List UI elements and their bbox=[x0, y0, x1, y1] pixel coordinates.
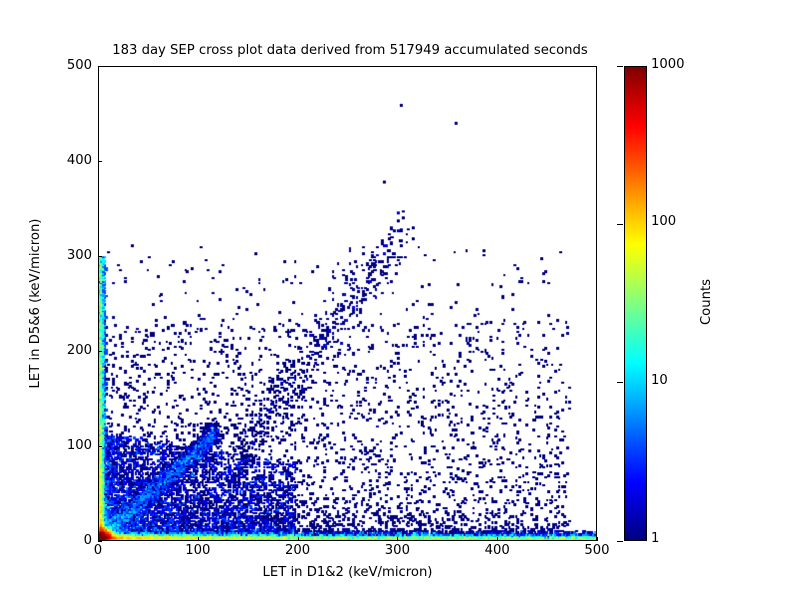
figure-canvas: 183 day SEP cross plot data derived from… bbox=[0, 0, 800, 600]
y-tick-mark bbox=[98, 541, 102, 542]
y-tick-label: 500 bbox=[48, 58, 92, 73]
x-tick-mark bbox=[397, 537, 398, 541]
plot-area[interactable] bbox=[98, 66, 597, 541]
y-tick-mark bbox=[98, 66, 102, 67]
colorbar-tick-label: 1000 bbox=[651, 57, 685, 72]
x-tick-mark bbox=[497, 537, 498, 541]
scatter-density-plot bbox=[99, 67, 596, 540]
y-tick-label: 300 bbox=[48, 248, 92, 263]
colorbar[interactable] bbox=[624, 66, 647, 541]
title-line-1: 183 day SEP cross plot data derived from… bbox=[0, 42, 700, 59]
colorbar-tick-label: 1 bbox=[651, 531, 659, 546]
colorbar-tick-mark bbox=[617, 66, 623, 67]
y-tick-mark bbox=[98, 351, 102, 352]
colorbar-tick-mark bbox=[617, 382, 623, 383]
y-axis-label: LET in D5&6 (keV/micron) bbox=[28, 66, 48, 541]
colorbar-tick-label: 100 bbox=[651, 214, 676, 229]
x-tick-mark bbox=[298, 537, 299, 541]
colorbar-axis-label: Counts bbox=[699, 202, 714, 402]
y-tick-label: 0 bbox=[48, 533, 92, 548]
y-tick-label: 400 bbox=[48, 153, 92, 168]
colorbar-tick-mark bbox=[617, 224, 623, 225]
x-axis-label: LET in D1&2 (keV/micron) bbox=[98, 565, 597, 580]
colorbar-tick-mark bbox=[617, 541, 623, 542]
colorbar-tick-label: 10 bbox=[651, 373, 668, 388]
x-tick-label: 200 bbox=[268, 543, 328, 558]
y-tick-label: 100 bbox=[48, 438, 92, 453]
x-tick-label: 100 bbox=[168, 543, 228, 558]
y-tick-label: 200 bbox=[48, 343, 92, 358]
x-tick-label: 400 bbox=[467, 543, 527, 558]
x-tick-label: 300 bbox=[367, 543, 427, 558]
x-tick-mark bbox=[597, 537, 598, 541]
y-tick-mark bbox=[98, 256, 102, 257]
x-tick-mark bbox=[198, 537, 199, 541]
y-tick-mark bbox=[98, 161, 102, 162]
y-tick-mark bbox=[98, 446, 102, 447]
x-tick-label: 500 bbox=[567, 543, 627, 558]
